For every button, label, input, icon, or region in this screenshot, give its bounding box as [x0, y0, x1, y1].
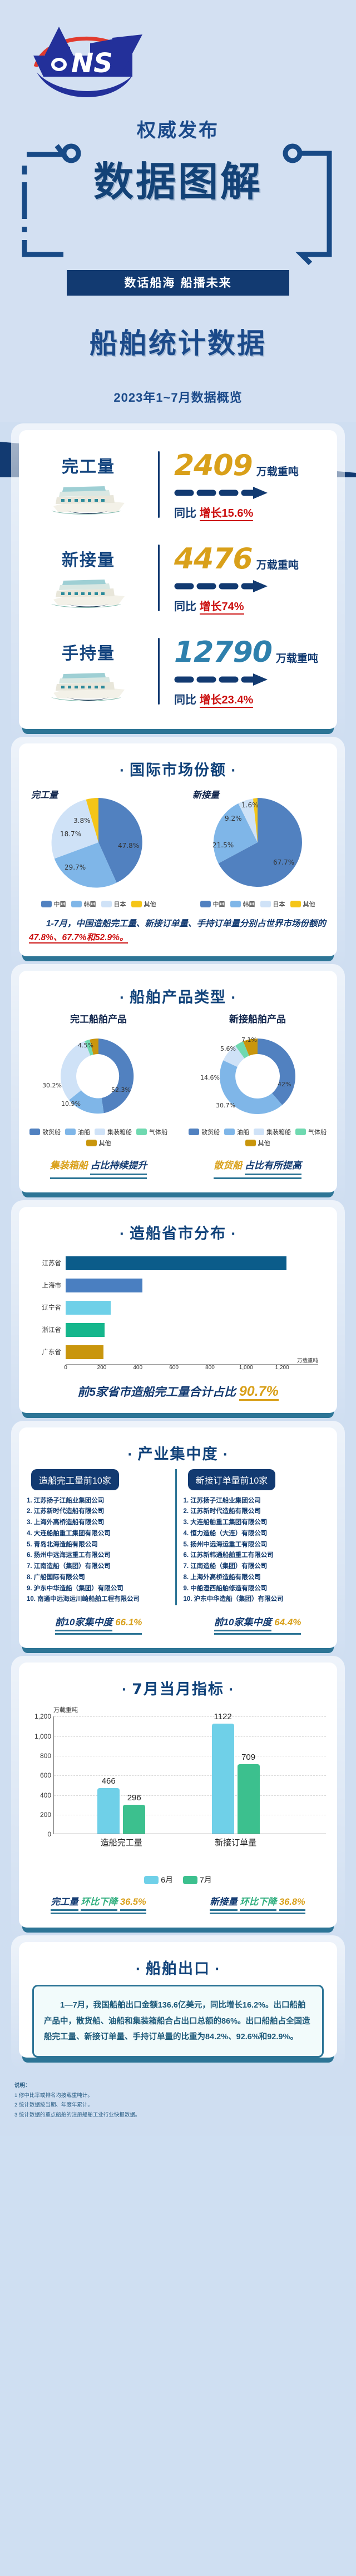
legend-item-other: 其他 [290, 900, 315, 908]
list-item: 2. 江苏新时代造船有限公司 [184, 1506, 332, 1517]
bar-label: 辽宁省 [19, 1303, 66, 1312]
metric-change-prefix: 同比 [174, 601, 196, 613]
concentration-footers: 前10家集中度 66.1% 前10家集中度 64.4% [19, 1605, 337, 1648]
donut-chart-neworders: 42% 30.7% 14.6% 5.6% 7.1% [198, 1025, 318, 1125]
bar-jiangsu [66, 1256, 286, 1270]
pie-legend: 中国 韩国 日本 其他 [19, 896, 178, 908]
bar-value: 709 [241, 1753, 255, 1762]
donut-neworders-col: 42% 30.7% 14.6% 5.6% 7.1% [178, 1025, 337, 1125]
bar-shanghai [66, 1279, 142, 1292]
export-card-wrapper: ·船舶出口· 1—7月，我国船舶出口金额136.6亿美元，同比增长16.2%。出… [19, 1942, 337, 2058]
pie-completed: 完工量 47.8% 29.7% 18.7% 3.8% [19, 785, 178, 908]
svg-text:42%: 42% [278, 1081, 291, 1088]
export-text: 1—7月，我国船舶出口金额136.6亿美元，同比增长16.2%。出口船舶产品中，… [44, 1998, 312, 2045]
bar-row: 辽宁省 [19, 1296, 337, 1319]
metric-left: 手持量 [19, 640, 158, 703]
legend-label: 散货船 [201, 1127, 220, 1136]
bar-group-neworders: 1122 709 新接订单量 [212, 1724, 260, 1834]
list-item: 3. 大连船舶重工集团有限公司 [184, 1517, 332, 1529]
gridline [54, 1775, 326, 1776]
july-card: ·7月当月指标· 万载重吨 1,200 1,000 800 600 400 20… [19, 1663, 337, 1928]
legend-item-tanker: 油船 [65, 1127, 90, 1136]
axis-tick: 600 [156, 1365, 192, 1374]
foot-prefix: 前10家集中度 [214, 1614, 272, 1631]
donut-heading-neworders: 新接船舶产品 [178, 1011, 337, 1025]
legend-label: 韩国 [84, 900, 96, 908]
svg-text:9.2%: 9.2% [225, 815, 242, 822]
foot-trend: 环比下降 [81, 1894, 117, 1911]
legend-item-other: 其他 [245, 1139, 270, 1147]
legend-label: 其他 [99, 1139, 111, 1147]
section-title-text: 船舶产品类型 [130, 989, 226, 1006]
y-axis: 1,200 1,000 800 600 400 200 0 [27, 1716, 53, 1834]
bar-july-neworders: 709 [238, 1764, 260, 1834]
bar-row: 浙江省 [19, 1319, 337, 1341]
stat-value: 90.7% [239, 1384, 279, 1401]
legend-label: 7月 [200, 1874, 212, 1885]
metric-value: 12790 [174, 636, 272, 669]
export-text-box: 1—7月，我国船舶出口金额136.6亿美元，同比增长16.2%。出口船舶产品中，… [32, 1985, 324, 2058]
title-dot-left: · [131, 1963, 146, 1976]
list-item: 4. 大连船舶重工集团有限公司 [27, 1529, 175, 1540]
donut-legend-right: 散货船 油船 集装箱船 气体船 其他 [178, 1125, 337, 1147]
ship-icon [47, 481, 130, 516]
list-item: 1. 江苏扬子江船业集团公司 [184, 1496, 332, 1507]
legend-item-other: 其他 [131, 900, 156, 908]
product-types-card-wrapper: ·船舶产品类型· 完工船舶产品 新接船舶产品 [19, 971, 337, 1192]
axis-unit-label: 万载重吨 [297, 1356, 318, 1364]
list-item: 4. 恒力造船（大连）有限公司 [184, 1529, 332, 1540]
stat-prefix: 前5家省市造船完工量合计占比 [77, 1386, 236, 1399]
legend-label: 气体船 [308, 1127, 327, 1136]
legend-label: 油船 [237, 1127, 249, 1136]
svg-text:47.8%: 47.8% [118, 842, 139, 850]
bar-guangdong [66, 1345, 103, 1359]
title-dot-right: · [219, 1448, 233, 1462]
foot-value: 36.5% [120, 1897, 146, 1911]
list-item: 3. 上海外高桥造船有限公司 [27, 1517, 175, 1529]
bar-row: 上海市 [19, 1274, 337, 1296]
legend-label: 中国 [54, 900, 66, 908]
market-share-pies: 完工量 47.8% 29.7% 18.7% 3.8% [19, 783, 337, 910]
infographic-page: NS 权威发布 数据图解 数话船海 船播未来 船舶统计数据 2023年1~7月数… [0, 0, 356, 2136]
bar-june-neworders: 1122 [212, 1724, 234, 1834]
footer-title: 说明： [14, 2081, 342, 2091]
concentration-right: 新接订单量前10家 1. 江苏扬子江船业集团公司 2. 江苏新时代造船有限公司 … [175, 1469, 332, 1606]
donut-legends: 散货船 油船 集装箱船 气体船 其他 散货船 油船 集装箱船 气体船 其他 [19, 1125, 337, 1147]
axis-tick: 1,000 [34, 1733, 51, 1740]
pie-legend: 中国 韩国 日本 其他 [178, 896, 337, 908]
section-title: ·国际市场份额· [19, 743, 337, 783]
foot-value: 66.1% [115, 1617, 142, 1628]
legend-label: 散货船 [42, 1127, 61, 1136]
legend-label: 集装箱船 [266, 1127, 291, 1136]
july-footers: 完工量 环比下降 36.5% 新接量 环比下降 36.8% [19, 1885, 337, 1928]
kicker-rest: 占比持续提升 [90, 1157, 147, 1175]
pill-neworders-top10: 新接订单量前10家 [188, 1469, 276, 1490]
metric-value: 2409 [174, 449, 253, 482]
concentration-card: ·产业集中度· 造船完工量前10家 1. 江苏扬子江船业集团公司 2. 江苏新时… [19, 1427, 337, 1649]
axis-tick: 800 [192, 1365, 228, 1374]
metric-right: 4476 万载重吨 同比 [160, 542, 337, 613]
title-dot-left: · [123, 1448, 137, 1462]
pie-chart-neworders: 67.7% 21.5% 9.2% 1.6% [199, 785, 316, 893]
legend-label: 日本 [273, 900, 285, 908]
section-title: ·产业集中度· [19, 1427, 337, 1467]
kicker-rest: 占比有所提高 [245, 1157, 301, 1175]
list-item: 7. 江南造船（集团）有限公司 [27, 1561, 175, 1572]
metric-change-prefix: 同比 [174, 694, 196, 706]
bar-group-label: 造船完工量 [97, 1836, 145, 1848]
bar-value: 296 [127, 1793, 141, 1803]
svg-text:4.5%: 4.5% [78, 1042, 93, 1049]
svg-text:NS: NS [71, 48, 113, 79]
company-list-neworders: 1. 江苏扬子江船业集团公司 2. 江苏新时代造船有限公司 3. 大连船舶重工集… [184, 1496, 332, 1606]
market-share-note: 1-7月，中国造船完工量、新接订单量、手持订单量分别占世界市场份额的47.8%、… [19, 910, 337, 956]
metric-label: 手持量 [62, 640, 115, 664]
july-card-wrapper: ·7月当月指标· 万载重吨 1,200 1,000 800 600 400 20… [19, 1663, 337, 1928]
donut-chart-completed: 52.3% 10.9% 30.2% 4.5% [39, 1025, 159, 1125]
bar-value: 466 [102, 1776, 116, 1786]
donut-legend-right-col: 散货船 油船 集装箱船 气体船 其他 [178, 1125, 337, 1147]
svg-text:7.1%: 7.1% [241, 1036, 257, 1044]
bar-track [66, 1274, 318, 1296]
axis-tick: 200 [83, 1365, 120, 1374]
legend-label: 油船 [78, 1127, 90, 1136]
axis-tick: 200 [40, 1811, 51, 1819]
province-bar-chart: 江苏省 上海市 辽宁省 [19, 1246, 337, 1374]
axis-tick: 400 [120, 1365, 156, 1374]
legend-item-tanker: 油船 [224, 1127, 249, 1136]
concentration-card-wrapper: ·产业集中度· 造船完工量前10家 1. 江苏扬子江船业集团公司 2. 江苏新时… [19, 1427, 337, 1649]
axis-tick: 1,200 [264, 1365, 300, 1374]
list-item: 1. 江苏扬子江船业集团公司 [27, 1496, 175, 1507]
july-foot-right: 新接量 环比下降 36.8% [178, 1894, 337, 1914]
y-axis-unit: 万载重吨 [27, 1705, 329, 1714]
axis-tick: 800 [40, 1752, 51, 1760]
list-item: 9. 中船澄西船舶修造有限公司 [184, 1584, 332, 1595]
foot-value: 64.4% [274, 1617, 301, 1628]
metric-change: 同比 增长23.4% [174, 691, 337, 707]
ship-icon [47, 574, 130, 610]
legend-item-japan: 日本 [101, 900, 126, 908]
title-dot-right: · [224, 1683, 239, 1697]
legend-label: 6月 [161, 1874, 173, 1885]
svg-text:67.7%: 67.7% [273, 858, 294, 866]
axis-tick: 0 [47, 1830, 51, 1838]
footer-line: 1 修中比率或排名均按载重吨计。 [14, 2091, 342, 2101]
section-title-text: 船舶出口 [146, 1960, 210, 1978]
province-card: ·造船省市分布· 江苏省 上海市 辽宁省 [19, 1207, 337, 1413]
legend-item-gas: 气体船 [136, 1127, 167, 1136]
list-item: 10. 沪东中华造船（集团）有限公司 [184, 1594, 332, 1605]
province-stat: 前5家省市造船完工量合计占比 90.7% [19, 1374, 337, 1413]
note-prefix: 1-7月，中国造船完工量、新接订单量、手持订单量分别占世界市场份额的 [46, 919, 326, 928]
product-donuts: 52.3% 10.9% 30.2% 4.5% [19, 1025, 337, 1125]
section-title-text: 产业集中度 [138, 1446, 219, 1463]
page-footer: 说明： 1 修中比率或排名均按载重吨计。 2 统计数据按当期、年度年累计。 3 … [0, 2072, 356, 2136]
metric-change-value: 增长15.6% [200, 507, 254, 521]
legend-label: 日本 [114, 900, 126, 908]
list-item: 5. 青岛北海造船有限公司 [27, 1540, 175, 1551]
legend-label: 其他 [303, 900, 315, 908]
legend-item-gas: 气体船 [295, 1127, 327, 1136]
section-title-text: 7月当月指标 [132, 1681, 224, 1698]
legend-item-korea: 韩国 [71, 900, 96, 908]
axis-tick: 1,000 [228, 1365, 264, 1374]
page-title: 数据图解 [0, 149, 356, 207]
bar-label: 广东省 [19, 1347, 66, 1356]
metric-label: 新接量 [62, 546, 115, 571]
metric-change-value: 增长74% [200, 601, 244, 615]
foot-trend: 环比下降 [240, 1894, 276, 1911]
july-bar-chart: 万载重吨 1,200 1,000 800 600 400 200 0 [19, 1702, 337, 1885]
metric-row: 新接量 [19, 531, 337, 625]
donut-legend-left-col: 散货船 油船 集装箱船 气体船 其他 [19, 1125, 178, 1147]
title-dot-right: · [210, 1963, 225, 1976]
bar-label: 江苏省 [19, 1259, 66, 1267]
authority-badge: 权威发布 [0, 115, 356, 142]
legend-item-july: 7月 [183, 1874, 212, 1885]
list-item: 8. 广船国际有限公司 [27, 1572, 175, 1584]
svg-text:14.6%: 14.6% [200, 1074, 220, 1081]
title-dot-right: · [226, 1227, 241, 1241]
bar-zhejiang [66, 1323, 105, 1337]
title-dot-right: · [226, 991, 241, 1005]
svg-text:1.6%: 1.6% [241, 801, 259, 809]
kicker-highlight: 集装箱船 [50, 1160, 88, 1171]
axis-tick: 600 [40, 1771, 51, 1779]
list-item: 10. 南通中远海运川崎船舶工程有限公司 [27, 1594, 175, 1605]
tagline-banner: 数话船海 船播未来 [67, 270, 289, 296]
note-highlight: 47.8%、67.7%和52.9%。 [29, 933, 128, 943]
list-item: 9. 沪东中华造船（集团）有限公司 [27, 1584, 175, 1595]
bar-label: 上海市 [19, 1281, 66, 1290]
legend-label: 其他 [258, 1139, 270, 1147]
legend-label: 集装箱船 [107, 1127, 132, 1136]
svg-text:30.2%: 30.2% [42, 1082, 62, 1089]
concentration-foot-left: 前10家集中度 66.1% [19, 1614, 178, 1635]
svg-text:3.8%: 3.8% [73, 817, 91, 825]
gridline [54, 1736, 326, 1737]
bar-label: 浙江省 [19, 1325, 66, 1334]
bar-track [66, 1296, 318, 1319]
list-item: 6. 江苏新韩通船舶重工有限公司 [184, 1550, 332, 1561]
svg-text:5.6%: 5.6% [220, 1045, 236, 1052]
metric-change: 同比 增长74% [174, 597, 337, 613]
july-foot-left: 完工量 环比下降 36.5% [19, 1894, 178, 1914]
legend-label: 韩国 [243, 900, 255, 908]
legend-label: 中国 [213, 900, 225, 908]
dashed-arrow-icon [174, 579, 337, 596]
cansi-logo-icon: NS [23, 21, 152, 104]
bar-july-completed: 296 [123, 1805, 145, 1834]
export-card: ·船舶出口· 1—7月，我国船舶出口金额136.6亿美元，同比增长16.2%。出… [19, 1942, 337, 2058]
bar-june-completed: 466 [97, 1788, 120, 1834]
section-title: ·船舶产品类型· [19, 971, 337, 1010]
gridline [54, 1756, 326, 1756]
section-title-text: 造船省市分布 [130, 1225, 226, 1242]
svg-text:18.7%: 18.7% [60, 830, 81, 838]
footer-line: 3 统计数据的重点船舶的注册船舶工业行业快报数据。 [14, 2110, 342, 2120]
province-card-wrapper: ·造船省市分布· 江苏省 上海市 辽宁省 [19, 1207, 337, 1413]
metric-right: 2409 万载重吨 同比 [160, 449, 337, 520]
legend-item-june: 6月 [144, 1874, 173, 1885]
dashed-arrow-icon [174, 486, 337, 503]
bar-group-label: 新接订单量 [212, 1836, 260, 1848]
section-title: ·7月当月指标· [19, 1663, 337, 1702]
title-dot-left: · [115, 764, 130, 778]
ship-icon [47, 667, 130, 703]
metric-row: 完工量 [19, 438, 337, 531]
list-item: 8. 上海外高桥造船有限公司 [184, 1572, 332, 1584]
svg-text:30.7%: 30.7% [216, 1102, 235, 1109]
bar-row: 江苏省 [19, 1252, 337, 1274]
pie-chart-completed: 47.8% 29.7% 18.7% 3.8% [40, 785, 157, 893]
product-types-card: ·船舶产品类型· 完工船舶产品 新接船舶产品 [19, 971, 337, 1192]
concentration-foot-right: 前10家集中度 64.4% [178, 1614, 337, 1635]
axis-tick: 1,200 [34, 1713, 51, 1720]
section-title: ·船舶出口· [19, 1942, 337, 1981]
july-legend: 6月 7月 [27, 1855, 329, 1885]
foot-label: 新接量 [210, 1894, 238, 1911]
metrics-card: 完工量 [19, 430, 337, 729]
chart-body: 1,200 1,000 800 600 400 200 0 [27, 1716, 329, 1855]
pill-completed-top10: 造船完工量前10家 [31, 1469, 119, 1490]
title-dot-left: · [117, 1683, 132, 1697]
legend-item-china: 中国 [200, 900, 225, 908]
metric-row: 手持量 [19, 625, 337, 718]
legend-item-container: 集装箱船 [254, 1127, 291, 1136]
product-kickers: 集装箱船 占比持续提升 散货船 占比有所提高 [19, 1147, 337, 1192]
svg-text:10.9%: 10.9% [61, 1100, 81, 1107]
svg-text:21.5%: 21.5% [212, 841, 234, 849]
concentration-left: 造船完工量前10家 1. 江苏扬子江船业集团公司 2. 江苏新时代造船有限公司 … [27, 1469, 175, 1606]
company-list-completed: 1. 江苏扬子江船业集团公司 2. 江苏新时代造船有限公司 3. 上海外高桥造船… [27, 1496, 175, 1606]
metric-unit: 万载重吨 [256, 463, 299, 478]
page-subtitle: 船舶统计数据 [0, 321, 356, 361]
bar-track: 万载重吨 [66, 1341, 318, 1363]
kicker-left: 集装箱船 占比持续提升 [19, 1157, 178, 1179]
footer-line: 2 统计数据按当期、年度年累计。 [14, 2100, 342, 2110]
legend-label: 其他 [144, 900, 156, 908]
pie-neworders: 新接量 67.7% 21.5% 9.2% 1.6% [178, 785, 337, 908]
legend-item-korea: 韩国 [230, 900, 255, 908]
donut-heading-completed: 完工船舶产品 [19, 1011, 178, 1025]
foot-value: 36.8% [279, 1897, 305, 1911]
bar-liaoning [66, 1301, 111, 1315]
metric-change-value: 增长23.4% [200, 694, 254, 708]
concentration-columns: 造船完工量前10家 1. 江苏扬子江船业集团公司 2. 江苏新时代造船有限公司 … [19, 1467, 337, 1606]
market-share-card: ·国际市场份额· 完工量 47.8% 29.7% [19, 743, 337, 956]
period-label: 2023年1~7月数据概览 [0, 388, 356, 406]
legend-item-container: 集装箱船 [95, 1127, 132, 1136]
metrics-card-wrapper: 完工量 [19, 430, 337, 729]
metric-left: 完工量 [19, 453, 158, 516]
foot-prefix: 前10家集中度 [55, 1614, 113, 1631]
page-header: NS 权威发布 数据图解 数话船海 船播未来 船舶统计数据 2023年1~7月数… [0, 0, 356, 422]
bar-track [66, 1319, 318, 1341]
kicker-highlight: 散货船 [214, 1160, 242, 1171]
title-dot-right: · [226, 764, 241, 778]
legend-label: 气体船 [149, 1127, 167, 1136]
plot-area: 466 296 造船完工量 1122 70 [53, 1716, 326, 1834]
metric-right: 12790 万载重吨 同 [160, 636, 337, 707]
bar-row: 广东省 万载重吨 [19, 1341, 337, 1363]
metric-change-prefix: 同比 [174, 507, 196, 520]
section-title: ·造船省市分布· [19, 1207, 337, 1246]
donut-legend-left: 散货船 油船 集装箱船 气体船 其他 [19, 1125, 178, 1147]
kicker-right: 散货船 占比有所提高 [178, 1157, 337, 1179]
metric-label: 完工量 [62, 453, 115, 477]
legend-item-bulk: 散货船 [189, 1127, 220, 1136]
pie-title: 新接量 [192, 787, 219, 801]
donut-headings: 完工船舶产品 新接船舶产品 [19, 1010, 337, 1025]
metric-left: 新接量 [19, 546, 158, 610]
list-item: 6. 扬州中远海运重工有限公司 [27, 1550, 175, 1561]
metric-value: 4476 [174, 542, 253, 576]
gridline [54, 1815, 326, 1815]
legend-item-japan: 日本 [260, 900, 285, 908]
svg-text:29.7%: 29.7% [65, 863, 86, 871]
bar-axis: 0 200 400 600 800 1,000 1,200 [66, 1364, 318, 1374]
metric-unit: 万载重吨 [276, 650, 318, 665]
market-share-card-wrapper: ·国际市场份额· 完工量 47.8% 29.7% [19, 743, 337, 956]
bar-group-completed: 466 296 造船完工量 [97, 1788, 145, 1834]
list-item: 5. 扬州中远海运重工有限公司 [184, 1540, 332, 1551]
pie-title: 完工量 [31, 787, 58, 801]
metric-unit: 万载重吨 [256, 557, 299, 572]
donut-completed-col: 52.3% 10.9% 30.2% 4.5% [19, 1025, 178, 1125]
dashed-arrow-icon [174, 672, 337, 690]
bar-value: 1122 [214, 1712, 231, 1721]
foot-label: 完工量 [51, 1894, 78, 1911]
legend-item-other: 其他 [86, 1139, 111, 1147]
section-title-text: 国际市场份额 [130, 762, 226, 779]
gridline [54, 1795, 326, 1796]
gridline [54, 1716, 326, 1717]
title-dot-left: · [115, 1227, 130, 1241]
axis-tick: 400 [40, 1791, 51, 1799]
svg-text:52.3%: 52.3% [111, 1086, 131, 1094]
legend-item-bulk: 散货船 [29, 1127, 61, 1136]
title-dot-left: · [115, 991, 130, 1005]
axis-tick: 0 [48, 1365, 84, 1374]
legend-item-china: 中国 [41, 900, 66, 908]
list-item: 7. 江南造船（集团）有限公司 [184, 1561, 332, 1572]
bar-track [66, 1252, 318, 1274]
metric-change: 同比 增长15.6% [174, 504, 337, 520]
list-item: 2. 江苏新时代造船有限公司 [27, 1506, 175, 1517]
